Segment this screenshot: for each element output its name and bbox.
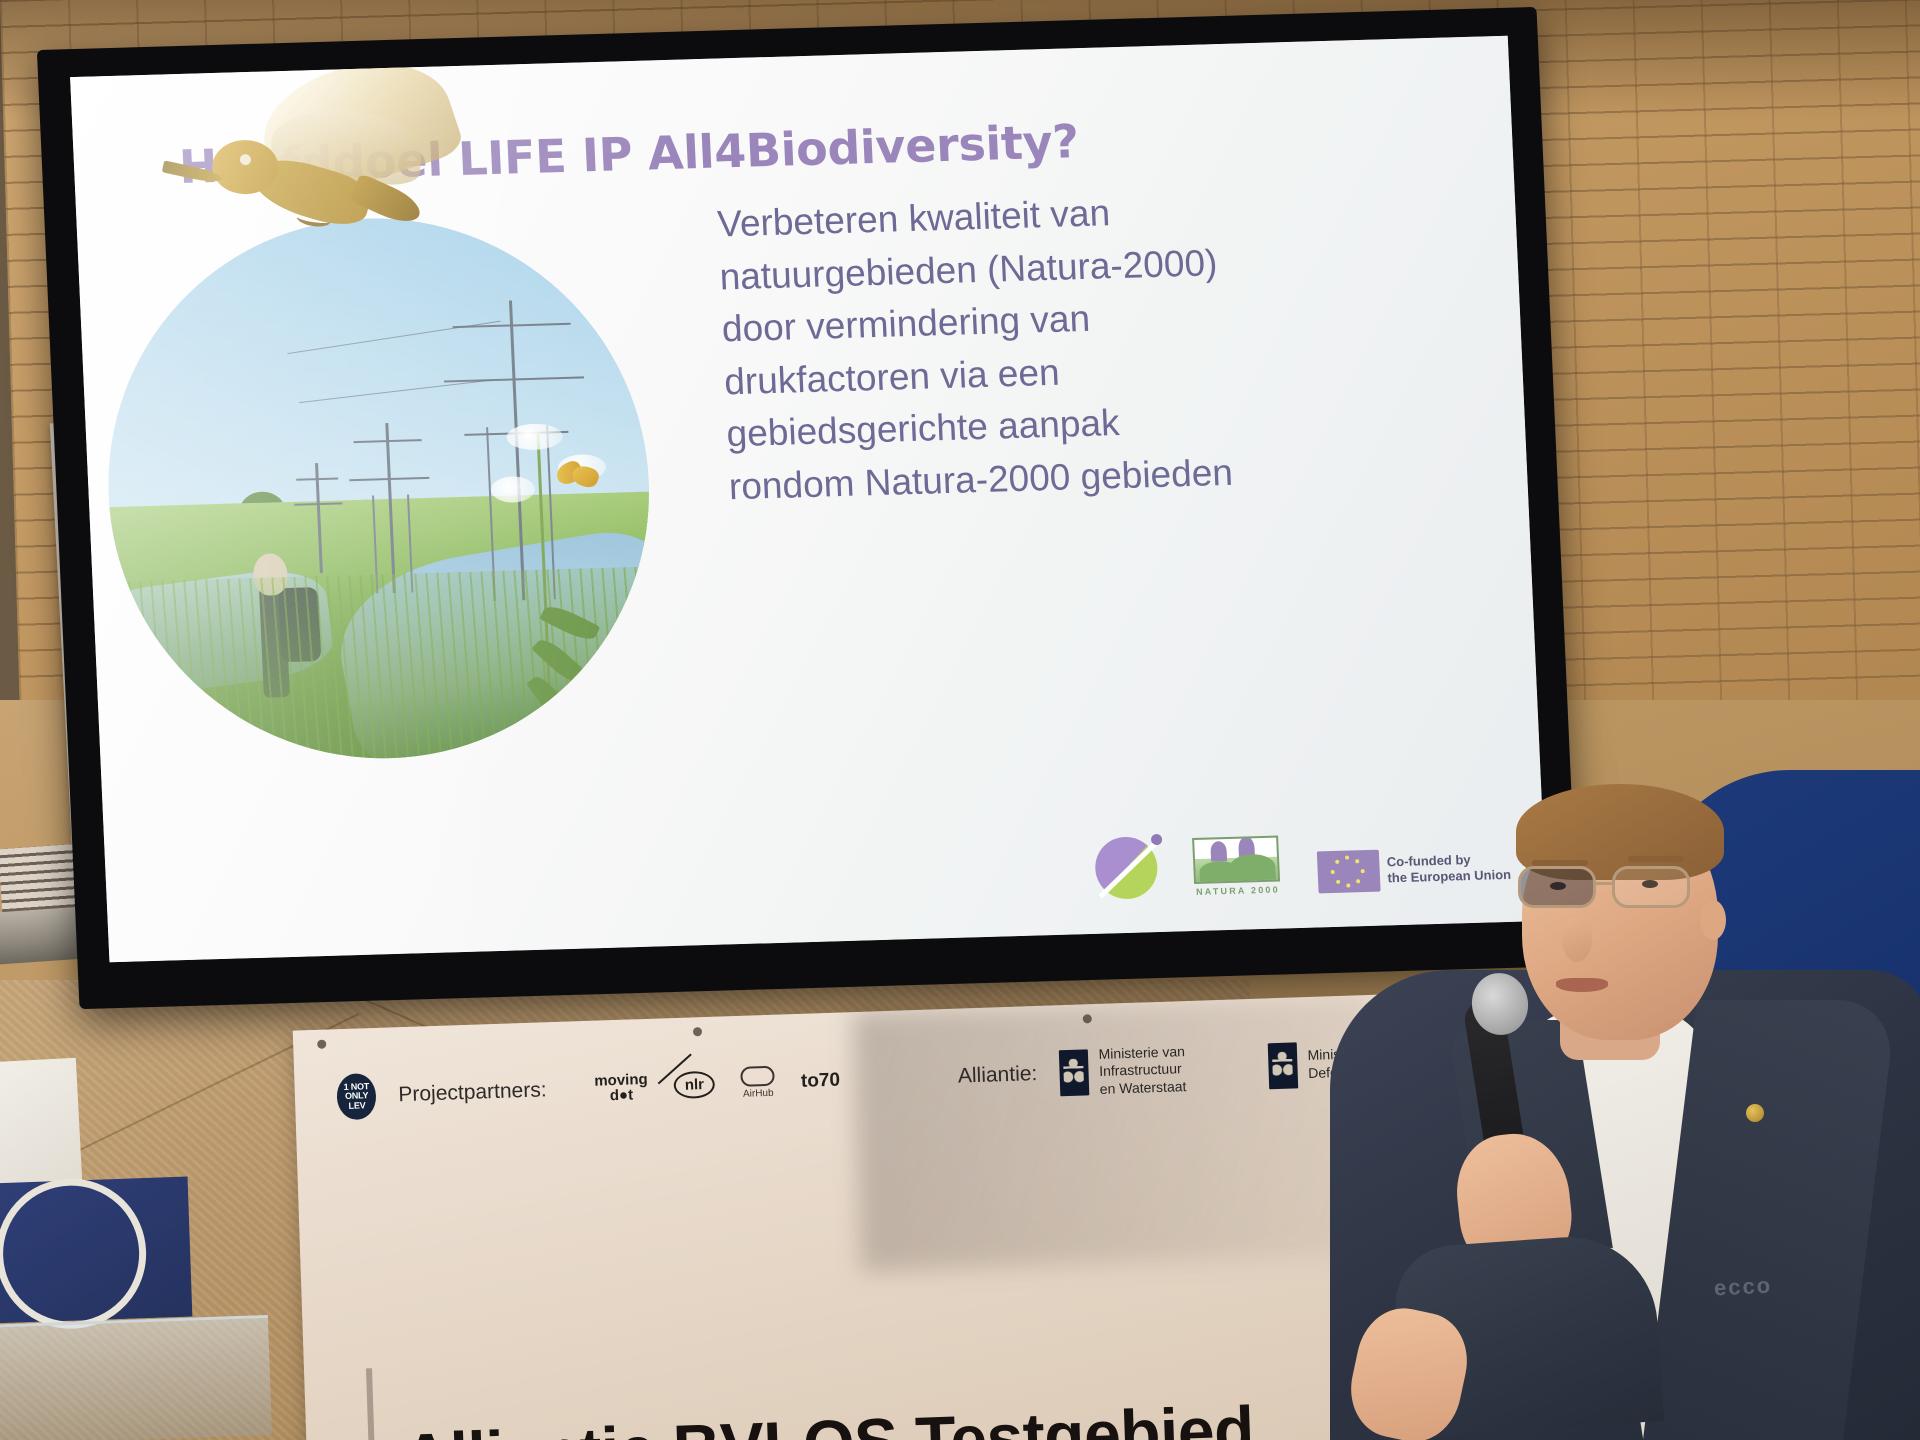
mouth [1556,978,1608,992]
hill-shape [1228,854,1275,881]
moving-dot-logo: moving d●t [594,1072,648,1104]
alliantie-label: Alliantie: [958,1062,1038,1089]
government-crest-icon [1059,1049,1089,1096]
arc-graphic [0,1176,149,1331]
all4biodiversity-logo [1093,836,1158,900]
lens-left [1518,866,1596,908]
ministerie-infrastructuur-waterstaat: Ministerie van Infrastructuur en Waterst… [1058,1041,1247,1100]
blue-sign-panel [0,1177,192,1324]
nlr-arrow-icon [658,1054,720,1116]
natura-label: NATURA 2000 [1194,884,1282,897]
power-pylon [343,422,437,594]
room-scene: Hoofddoel LIFE IP All4Biodiversity? [0,0,1920,1440]
natura-2000-logo: NATURA 2000 [1192,836,1283,897]
kingfisher-bird [150,56,460,294]
glass-table-edge [0,1315,272,1440]
circular-collage-photo [97,211,661,766]
ministry-line1: Ministerie van Infrastructuur [1098,1043,1185,1079]
logo-pin [1150,834,1161,845]
flower-head [506,423,563,451]
bird-icon [1210,841,1227,861]
eyeglasses [1516,866,1732,910]
flower-head [490,476,535,503]
power-pylon [291,462,346,573]
partner-logos: moving d●t nlr AirHub to70 [594,1064,841,1105]
banner-grommet [693,1027,702,1036]
pylon-mast [385,423,396,593]
slide-body-text: Verbeteren kwaliteit van natuurgebieden … [716,179,1420,514]
cow-parsley-plant [436,411,661,757]
eyebrow [1628,856,1684,862]
ministry-label: Ministerie van Infrastructuur en Waterst… [1098,1041,1247,1098]
ministry-line2: en Waterstaat [1099,1078,1186,1097]
lapel-pin [1746,1104,1764,1122]
speaker-with-microphone: ecco [1310,760,1920,1440]
nlr-logo: nlr [673,1071,715,1099]
nose [1562,918,1592,962]
airhub-label: AirHub [743,1088,774,1100]
projectpartners-label: Projectpartners: [398,1078,547,1107]
logo-frame [1192,836,1280,884]
project-badge-icon: 1 NOTONLYLEV [336,1073,377,1120]
banner-accent-rule [366,1368,376,1440]
moving-dot-line2: d●t [610,1086,634,1104]
lens-right [1612,866,1690,908]
banner-grommet [317,1040,326,1049]
to70-logo: to70 [801,1069,841,1092]
butterfly [556,462,603,493]
cloud-icon [740,1066,775,1087]
airhub-logo: AirHub [740,1066,775,1100]
jacket-brand-text: ecco [1713,1272,1772,1301]
banner-headline: Alliantie BVLOS Testgebied [402,1391,1255,1440]
government-crest-icon [1267,1042,1297,1089]
